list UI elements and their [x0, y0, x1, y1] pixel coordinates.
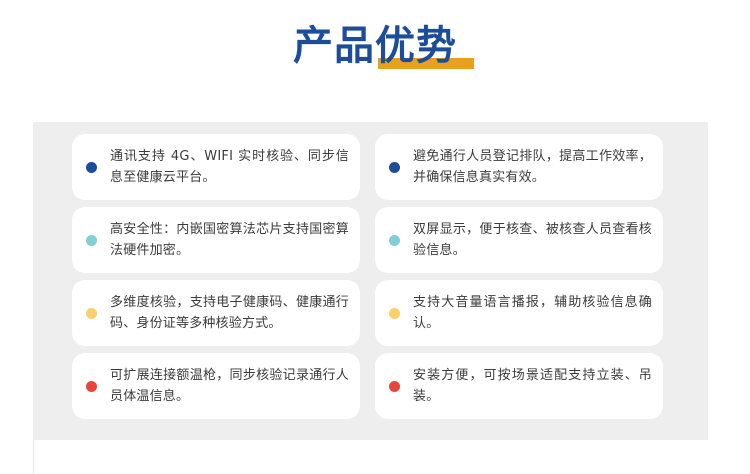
advantage-card[interactable]: 高安全性：内嵌国密算法芯片支持国密算法硬件加密。: [72, 207, 360, 273]
advantage-card[interactable]: 支持大音量语言播报，辅助核验信息确认。: [375, 280, 663, 346]
left-vertical-divider: [33, 440, 34, 474]
bullet-dot-red: [86, 381, 97, 392]
advantage-text: 高安全性：内嵌国密算法芯片支持国密算法硬件加密。: [110, 219, 349, 261]
bullet-dot-blue: [389, 162, 400, 173]
page-title-inner: 产品优势: [293, 26, 457, 66]
bullet-dot-blue: [86, 162, 97, 173]
advantage-text: 双屏显示，便于核查、被核查人员查看核验信息。: [413, 219, 652, 261]
advantage-text: 安装方便，可按场景适配支持立装、吊装。: [413, 365, 652, 407]
advantage-card[interactable]: 多维度核验，支持电子健康码、健康通行码、身份证等多种核验方式。: [72, 280, 360, 346]
advantage-text: 多维度核验，支持电子健康码、健康通行码、身份证等多种核验方式。: [110, 292, 349, 334]
advantage-text: 可扩展连接额温枪，同步核验记录通行人员体温信息。: [110, 365, 349, 407]
bullet-dot-yellow: [389, 308, 400, 319]
advantage-text: 通讯支持 4G、WIFI 实时核验、同步信息至健康云平台。: [110, 146, 349, 188]
advantages-grid: 通讯支持 4G、WIFI 实时核验、同步信息至健康云平台。避免通行人员登记排队，…: [72, 131, 676, 422]
advantage-cell: 双屏显示，便于核查、被核查人员查看核验信息。: [375, 204, 678, 276]
advantage-cell: 安装方便，可按场景适配支持立装、吊装。: [375, 350, 678, 422]
page-title: 产品优势: [293, 23, 457, 69]
bullet-dot-teal: [86, 235, 97, 246]
advantage-cell: 支持大音量语言播报，辅助核验信息确认。: [375, 277, 678, 349]
advantage-text: 避免通行人员登记排队，提高工作效率，并确保信息真实有效。: [413, 146, 652, 188]
advantage-cell: 可扩展连接额温枪，同步核验记录通行人员体温信息。: [72, 350, 375, 422]
bullet-dot-yellow: [86, 308, 97, 319]
advantage-cell: 高安全性：内嵌国密算法芯片支持国密算法硬件加密。: [72, 204, 375, 276]
advantage-card[interactable]: 双屏显示，便于核查、被核查人员查看核验信息。: [375, 207, 663, 273]
advantage-text: 支持大音量语言播报，辅助核验信息确认。: [413, 292, 652, 334]
advantage-cell: 多维度核验，支持电子健康码、健康通行码、身份证等多种核验方式。: [72, 277, 375, 349]
advantage-card[interactable]: 安装方便，可按场景适配支持立装、吊装。: [375, 353, 663, 419]
advantage-card[interactable]: 通讯支持 4G、WIFI 实时核验、同步信息至健康云平台。: [72, 134, 360, 200]
page-title-block: 产品优势: [0, 26, 750, 88]
advantage-cell: 通讯支持 4G、WIFI 实时核验、同步信息至健康云平台。: [72, 131, 375, 203]
advantage-card[interactable]: 避免通行人员登记排队，提高工作效率，并确保信息真实有效。: [375, 134, 663, 200]
product-advantages-page: 产品优势 通讯支持 4G、WIFI 实时核验、同步信息至健康云平台。避免通行人员…: [0, 0, 750, 474]
advantage-cell: 避免通行人员登记排队，提高工作效率，并确保信息真实有效。: [375, 131, 678, 203]
bullet-dot-red: [389, 381, 400, 392]
bullet-dot-teal: [389, 235, 400, 246]
advantage-card[interactable]: 可扩展连接额温枪，同步核验记录通行人员体温信息。: [72, 353, 360, 419]
